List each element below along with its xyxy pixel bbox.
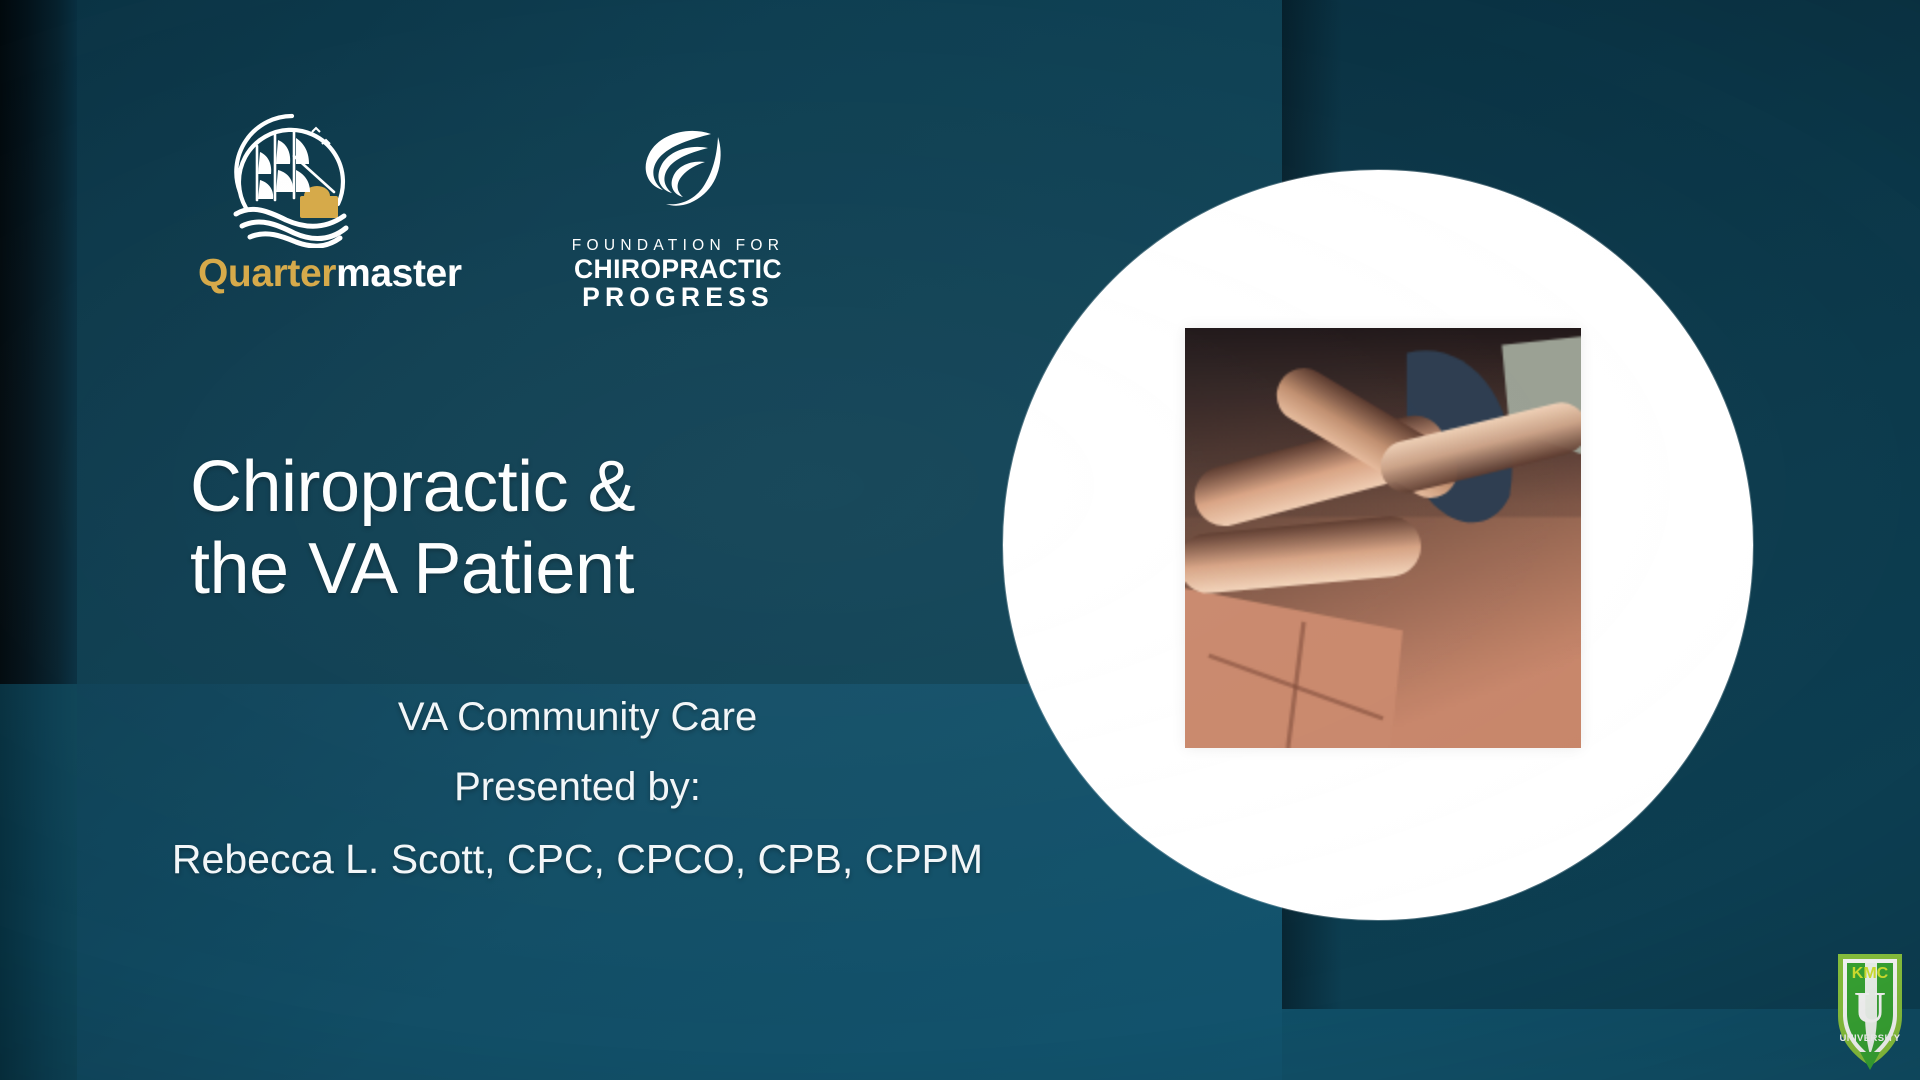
quartermaster-word-white: master [336, 252, 462, 295]
hands-joined-together-photo [1185, 328, 1581, 748]
f4cp-line-foundation-for: FOUNDATION FOR [553, 237, 803, 255]
f4cp-line-chiropractic: CHIROPRACTIC [553, 255, 803, 284]
svg-text:UNIVERSITY: UNIVERSITY [1839, 1033, 1900, 1044]
subtitle-presenter-name: Rebecca L. Scott, CPC, CPCO, CPB, CPPM [60, 830, 1095, 889]
quartermaster-wordmark: Quartermaster [198, 254, 488, 293]
background-panel-bottom-right [1282, 1009, 1920, 1080]
slide-title-line-2: the VA Patient [190, 528, 950, 610]
subtitle-topic: VA Community Care [60, 688, 1095, 746]
slide-title: Chiropractic & the VA Patient [190, 446, 950, 610]
f4cp-line-progress: PROGRESS [553, 283, 803, 312]
slide-subtitle-block: VA Community Care Presented by: Rebecca … [60, 688, 1095, 889]
quartermaster-logo: Quartermaster [198, 96, 488, 326]
swirl-wave-icon [632, 128, 724, 214]
svg-text:U: U [1854, 983, 1886, 1032]
background-left-edge-band [0, 0, 77, 684]
quartermaster-word-gold: Quarter [198, 252, 336, 295]
presentation-slide: Quartermaster FOUNDATION FOR CHIROPRACTI… [0, 0, 1920, 1080]
photo-canvas [1185, 328, 1581, 748]
sailing-ship-in-circle-icon [216, 96, 368, 248]
slide-title-line-1: Chiropractic & [190, 446, 950, 528]
foundation-chiropractic-progress-logo: FOUNDATION FOR CHIROPRACTIC PROGRESS [553, 128, 803, 338]
subtitle-presented-by-label: Presented by: [60, 758, 1095, 816]
svg-text:KMC: KMC [1852, 965, 1889, 982]
kmc-university-shield-icon: KMC U UNIVERSITY [1832, 948, 1908, 1072]
